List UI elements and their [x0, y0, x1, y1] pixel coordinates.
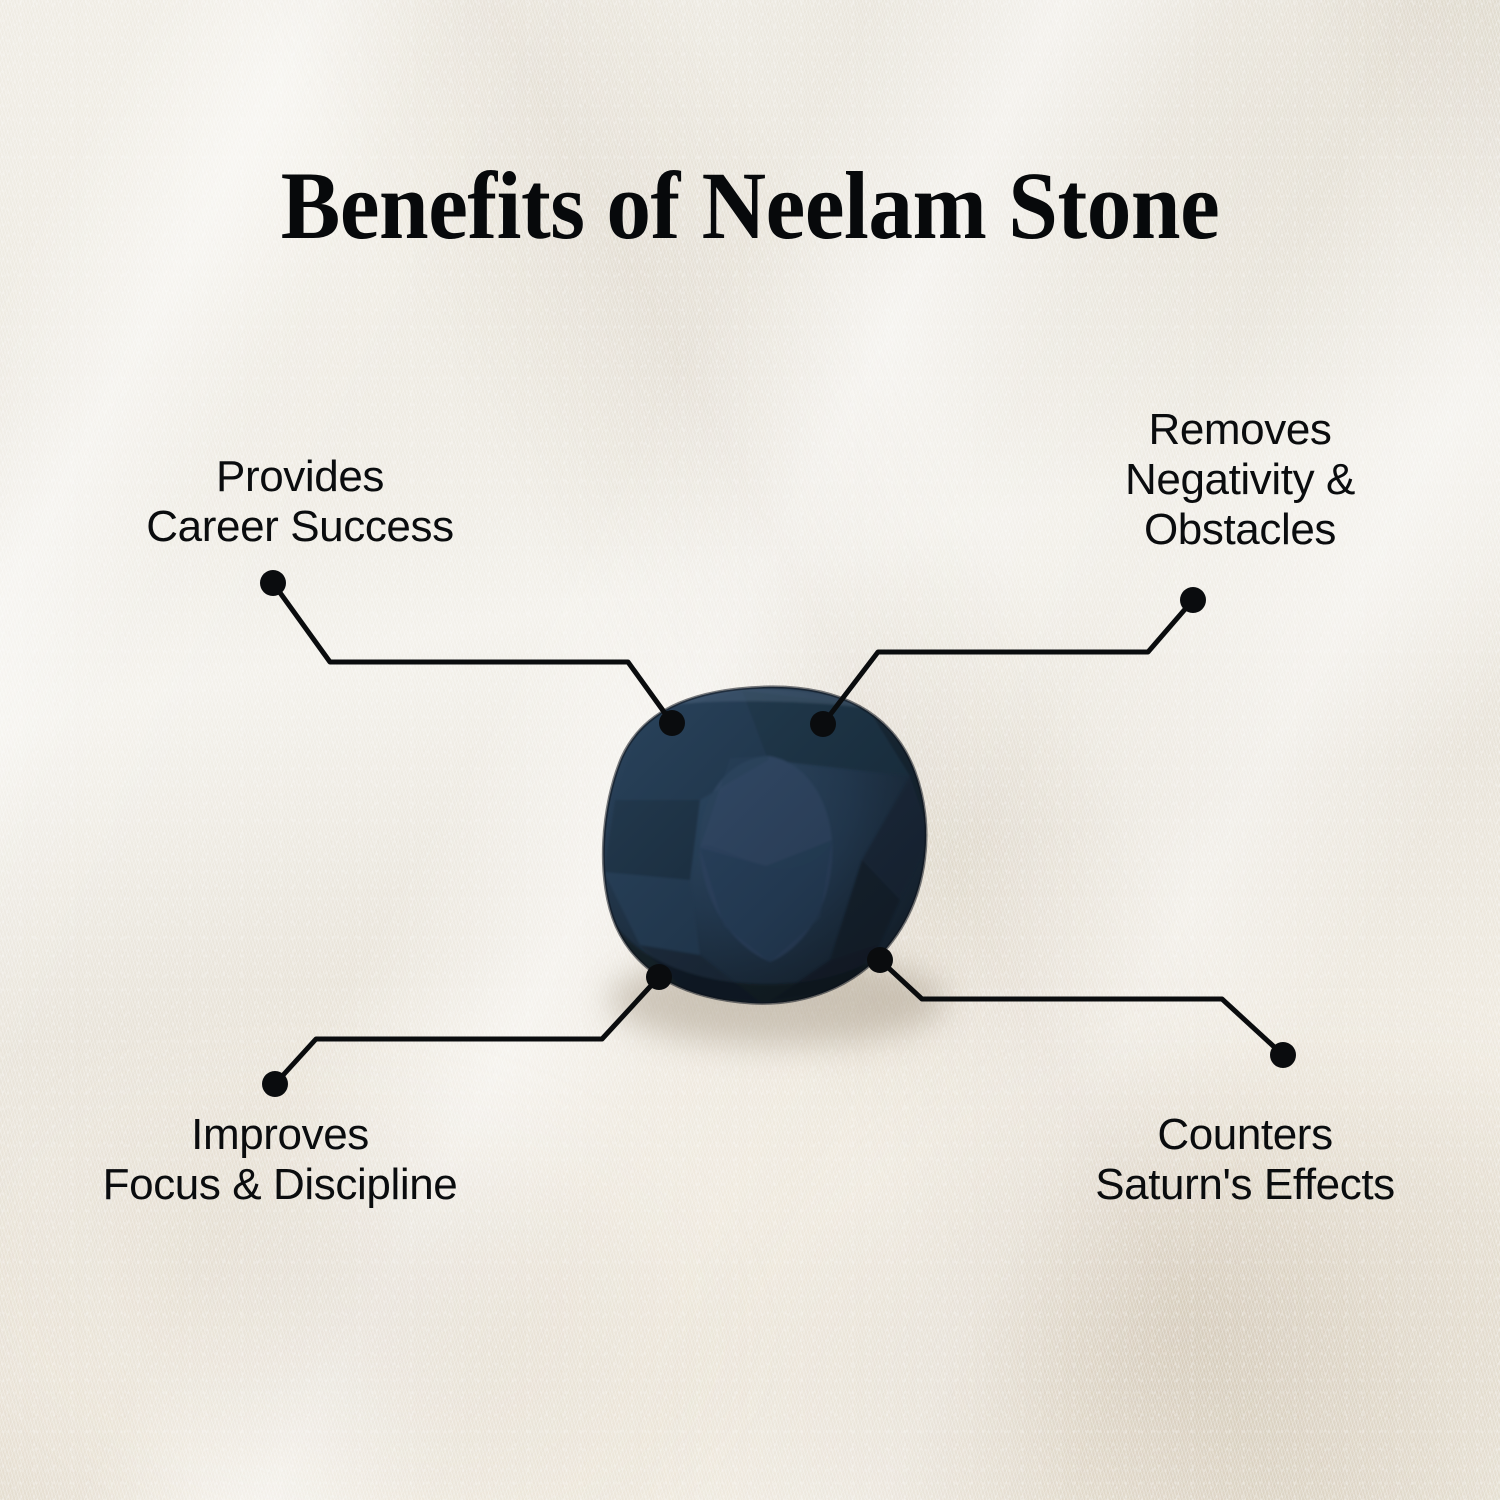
leader-dot-label	[262, 1071, 288, 1097]
callout-line: Saturn's Effects	[1010, 1160, 1480, 1210]
callout-label-provides-career-success: Provides Career Success	[60, 452, 540, 552]
callout-line: Negativity &	[1010, 455, 1470, 505]
callout-label-removes-negativity-and-obstacles: Removes Negativity & Obstacles	[1010, 405, 1470, 555]
callout-label-counters-saturns-effects: Counters Saturn's Effects	[1010, 1110, 1480, 1210]
callout-label-improves-focus-and-discipline: Improves Focus & Discipline	[20, 1110, 540, 1210]
callout-line: Provides	[60, 452, 540, 502]
leader-dot-label	[260, 570, 286, 596]
leader-line-improves-focus-and-discipline	[262, 964, 672, 1097]
leader-dot-stone	[646, 964, 672, 990]
leader-line-provides-career-success	[260, 570, 685, 736]
callout-line: Counters	[1010, 1110, 1480, 1160]
callout-line: Removes	[1010, 405, 1470, 455]
leader-dot-label	[1270, 1042, 1296, 1068]
callout-line: Focus & Discipline	[20, 1160, 540, 1210]
poster-canvas: Benefits of Neelam Stone	[0, 0, 1500, 1500]
leader-dot-stone	[810, 711, 836, 737]
leader-dot-label	[1180, 587, 1206, 613]
gemstone-and-callout-lines	[0, 0, 1500, 1500]
leader-dot-stone	[867, 947, 893, 973]
callout-line: Improves	[20, 1110, 540, 1160]
callout-line: Career Success	[60, 502, 540, 552]
callout-line: Obstacles	[1010, 505, 1470, 555]
leader-dot-stone	[659, 710, 685, 736]
